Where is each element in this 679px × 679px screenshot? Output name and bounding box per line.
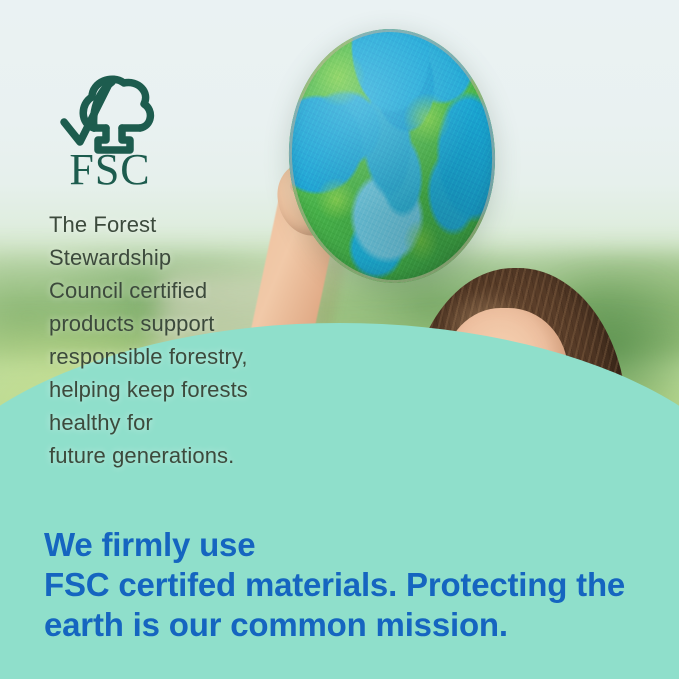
fsc-logo: FSC	[58, 66, 162, 190]
headline-text: We firmly use FSC certifed materials. Pr…	[44, 525, 644, 645]
fsc-banner-canvas: FSC The Forest Stewardship Council certi…	[0, 0, 679, 679]
fsc-description-paragraph: The Forest Stewardship Council certified…	[49, 208, 299, 472]
fsc-wordmark: FSC	[69, 145, 150, 190]
fsc-tree-checkmark-icon	[64, 79, 150, 150]
